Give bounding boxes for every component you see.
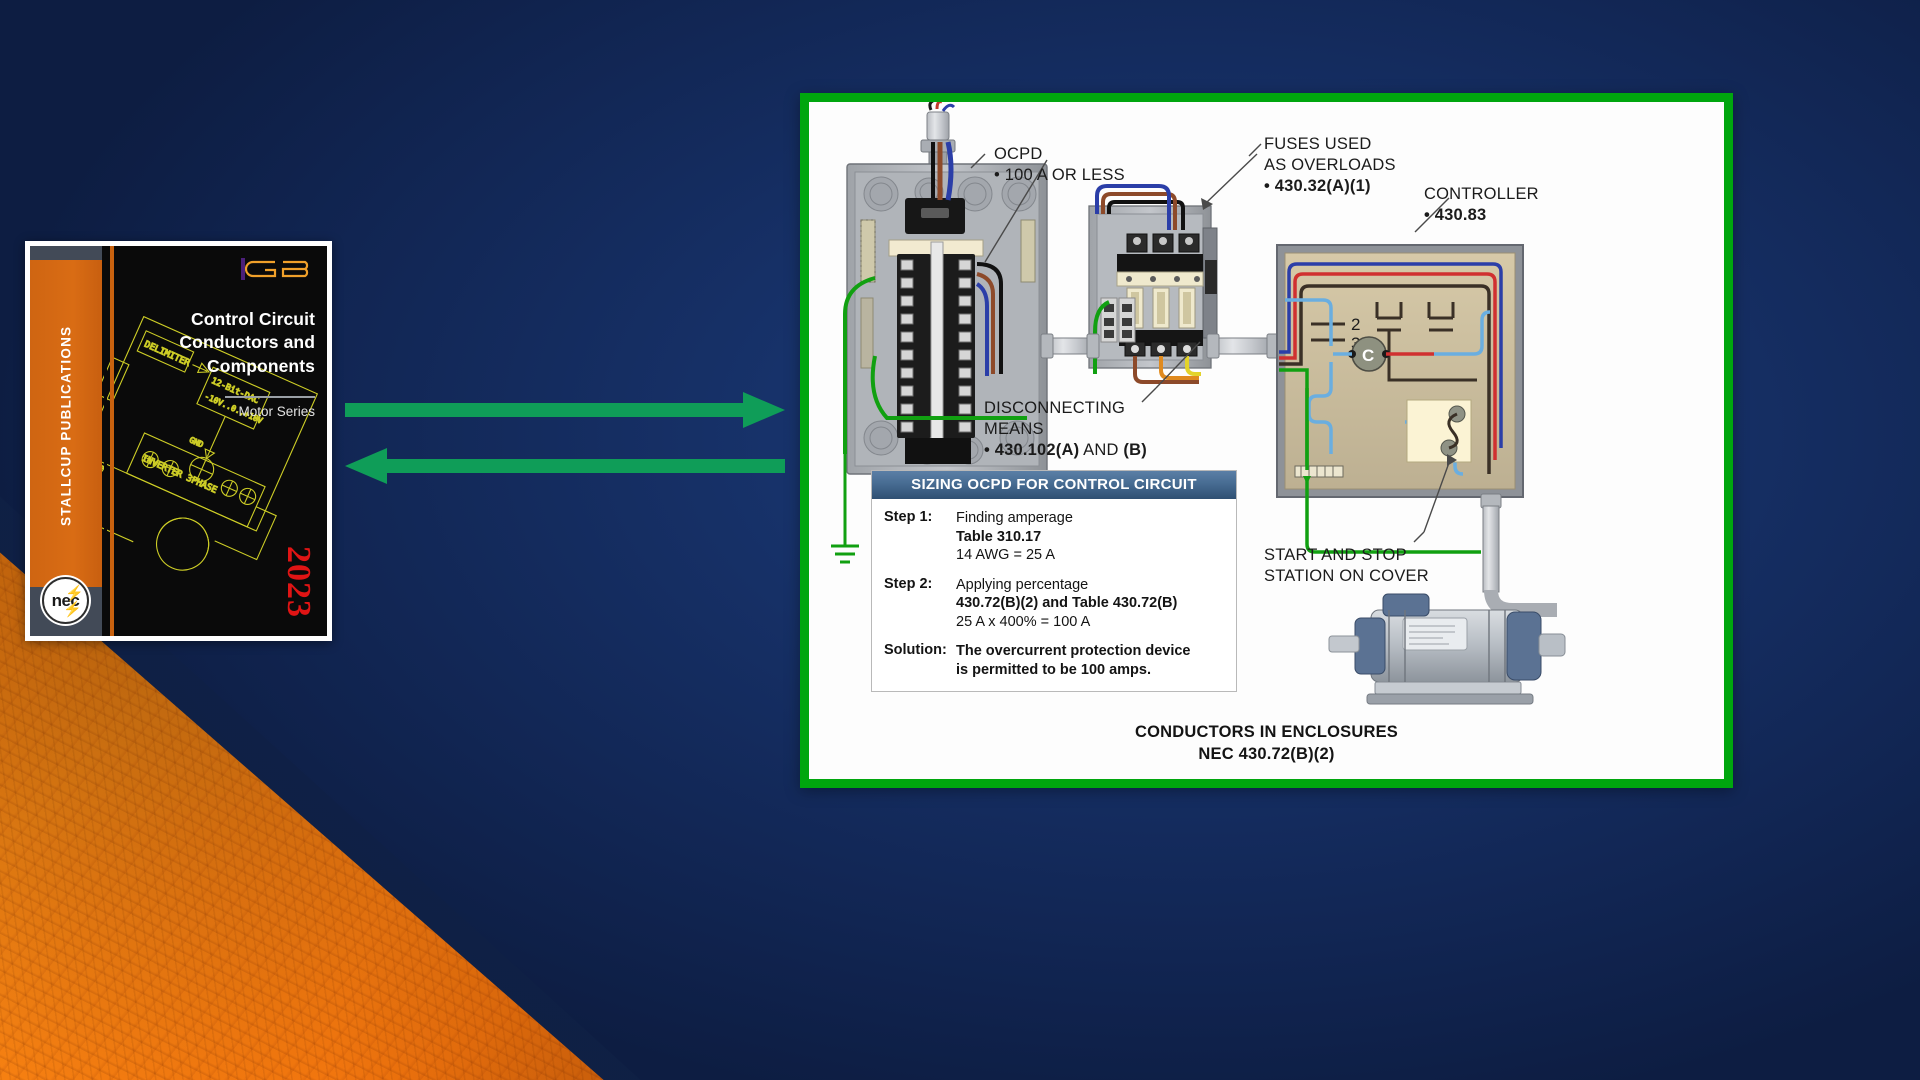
callout-start-line2: STATION ON COVER bbox=[1264, 566, 1429, 587]
callout-fuses-bullet: • 430.32(A)(1) bbox=[1264, 177, 1371, 195]
publisher-name: STALLCUP PUBLICATIONS bbox=[30, 276, 102, 576]
spine-rule-dark bbox=[104, 246, 107, 636]
step-line: The overcurrent protection device bbox=[956, 642, 1190, 661]
caption-line-1: CONDUCTORS IN ENCLOSURES bbox=[809, 722, 1724, 743]
step-line: 430.72(B)(2) and Table 430.72(B) bbox=[956, 594, 1177, 613]
step-label: Step 2: bbox=[884, 576, 956, 632]
book-cover-face: Control Circuit Conductors and Component… bbox=[114, 246, 327, 636]
callout-fuses-line2: AS OVERLOADS bbox=[1264, 155, 1396, 176]
step-line: is permitted to be 100 amps. bbox=[956, 661, 1190, 680]
arrow-left-icon bbox=[345, 448, 785, 489]
controller-terminal-2: 2 bbox=[1351, 315, 1360, 334]
step-content: Applying percentage 430.72(B)(2) and Tab… bbox=[956, 576, 1177, 632]
step-content: Finding amperage Table 310.17 14 AWG = 2… bbox=[956, 509, 1073, 565]
book-cover-inner: DELIMITER 12-Bit-DAC -10V..0..+10V GND I… bbox=[30, 246, 327, 636]
callout-disconnecting-means: DISCONNECTING MEANS • 430.102(A) AND (B) bbox=[984, 398, 1147, 461]
callout-fuses-line1: FUSES USED bbox=[1264, 134, 1396, 155]
callout-controller-bullet: • 430.83 bbox=[1424, 206, 1486, 224]
book-subtitle: Motor Series bbox=[135, 404, 315, 419]
step-line: 14 AWG = 25 A bbox=[956, 546, 1073, 565]
callout-controller-title: CONTROLLER bbox=[1424, 184, 1539, 205]
step-line: 25 A x 400% = 100 A bbox=[956, 613, 1177, 632]
sizing-table: SIZING OCPD FOR CONTROL CIRCUIT Step 1: … bbox=[871, 470, 1237, 610]
contactor-coil-label: C bbox=[1362, 346, 1374, 365]
sizing-table-box: SIZING OCPD FOR CONTROL CIRCUIT Step 1: … bbox=[871, 470, 1237, 692]
caption-line-2: NEC 430.72(B)(2) bbox=[809, 744, 1724, 765]
gb-logo-icon bbox=[241, 258, 313, 280]
callout-disconnect-bullet2: (B) bbox=[1123, 441, 1147, 459]
callout-disconnect-line1: DISCONNECTING bbox=[984, 398, 1147, 419]
step-label: Solution: bbox=[884, 642, 956, 679]
callout-ocpd-bullet: • 100 A OR LESS bbox=[994, 165, 1125, 186]
step-line: Table 310.17 bbox=[956, 528, 1073, 547]
step-label: Step 1: bbox=[884, 509, 956, 565]
sizing-table-body: Step 1: Finding amperage Table 310.17 14… bbox=[872, 499, 1236, 691]
callout-start-line1: START AND STOP bbox=[1264, 545, 1429, 566]
nec-badge[interactable]: ⚡ nec ⚡ bbox=[42, 577, 89, 624]
callout-ocpd-title: OCPD bbox=[994, 144, 1125, 165]
lightning-bolt-icon: ⚡ bbox=[63, 602, 82, 617]
step-line: Applying percentage bbox=[956, 576, 1177, 595]
book-title-line-3: Components bbox=[135, 355, 315, 378]
table-row: Step 1: Finding amperage Table 310.17 14… bbox=[884, 509, 1228, 565]
lightning-bolt-icon: ⚡ bbox=[65, 586, 84, 601]
callout-disconnect-bullet: • 430.102(A) bbox=[984, 441, 1079, 459]
step-line: Finding amperage bbox=[956, 509, 1073, 528]
book-title-divider bbox=[225, 396, 315, 398]
book-title-line-2: Conductors and bbox=[135, 331, 315, 354]
book-title: Control Circuit Conductors and Component… bbox=[135, 308, 315, 378]
callout-ocpd: OCPD • 100 A OR LESS bbox=[994, 144, 1125, 186]
arrow-right-icon bbox=[345, 392, 785, 433]
table-row: Step 2: Applying percentage 430.72(B)(2)… bbox=[884, 576, 1228, 632]
diagram-canvas: 2 3 C bbox=[809, 102, 1724, 779]
diagram-caption: CONDUCTORS IN ENCLOSURES NEC 430.72(B)(2… bbox=[809, 722, 1724, 765]
slide-canvas: DELIMITER 12-Bit-DAC -10V..0..+10V GND I… bbox=[0, 0, 1920, 1080]
diagram-card[interactable]: 2 3 C bbox=[800, 93, 1733, 788]
callout-controller: CONTROLLER • 430.83 bbox=[1424, 184, 1539, 226]
table-row: Solution: The overcurrent protection dev… bbox=[884, 642, 1228, 679]
callout-disconnect-and: AND bbox=[1079, 441, 1123, 459]
book-year: 2023 bbox=[279, 546, 317, 618]
step-content: The overcurrent protection device is per… bbox=[956, 642, 1190, 679]
callout-disconnect-line2: MEANS bbox=[984, 419, 1147, 440]
book-title-line-1: Control Circuit bbox=[135, 308, 315, 331]
sizing-table-header: SIZING OCPD FOR CONTROL CIRCUIT bbox=[872, 471, 1236, 499]
book-cover[interactable]: DELIMITER 12-Bit-DAC -10V..0..+10V GND I… bbox=[25, 241, 332, 641]
callout-fuses: FUSES USED AS OVERLOADS • 430.32(A)(1) bbox=[1264, 134, 1396, 197]
callout-start-stop-station: START AND STOP STATION ON COVER bbox=[1264, 545, 1429, 587]
